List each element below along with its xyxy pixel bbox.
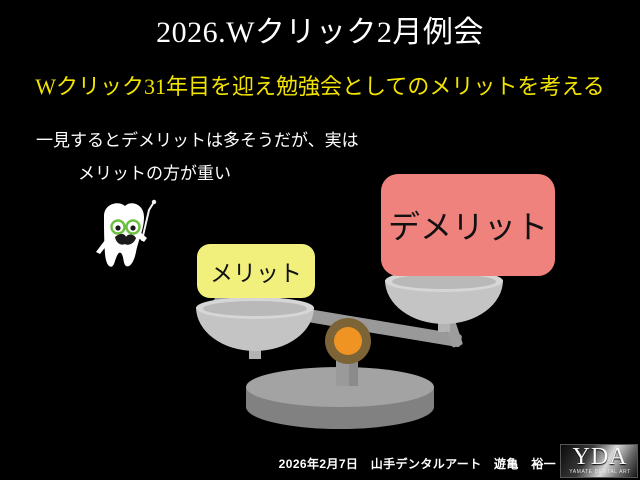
scale-pan-left-rim-inner: [203, 301, 307, 316]
yda-logo-wordmark: YDA: [561, 444, 638, 471]
scale-pan-right-rim-inner: [392, 274, 496, 289]
yda-logo: YDA YAMATE DENTAL ART: [560, 444, 638, 478]
weight-box-demerit: デメリット: [381, 174, 555, 276]
slide-footer: 2026年2月7日 山手デンタルアート 遊亀 裕一 YDA YAMATE DEN…: [0, 444, 640, 480]
presentation-slide: 2026.Wクリック2月例会 Wクリック31年目を迎え勉強会としてのメリットを考…: [0, 0, 640, 480]
scale-pivot-core: [334, 327, 362, 355]
yda-logo-tagline: YAMATE DENTAL ART: [561, 469, 638, 475]
tooth-mascot-icon: [92, 196, 164, 274]
weight-box-merit: メリット: [197, 244, 315, 298]
footer-credit: 2026年2月7日 山手デンタルアート 遊亀 裕一: [279, 455, 556, 472]
